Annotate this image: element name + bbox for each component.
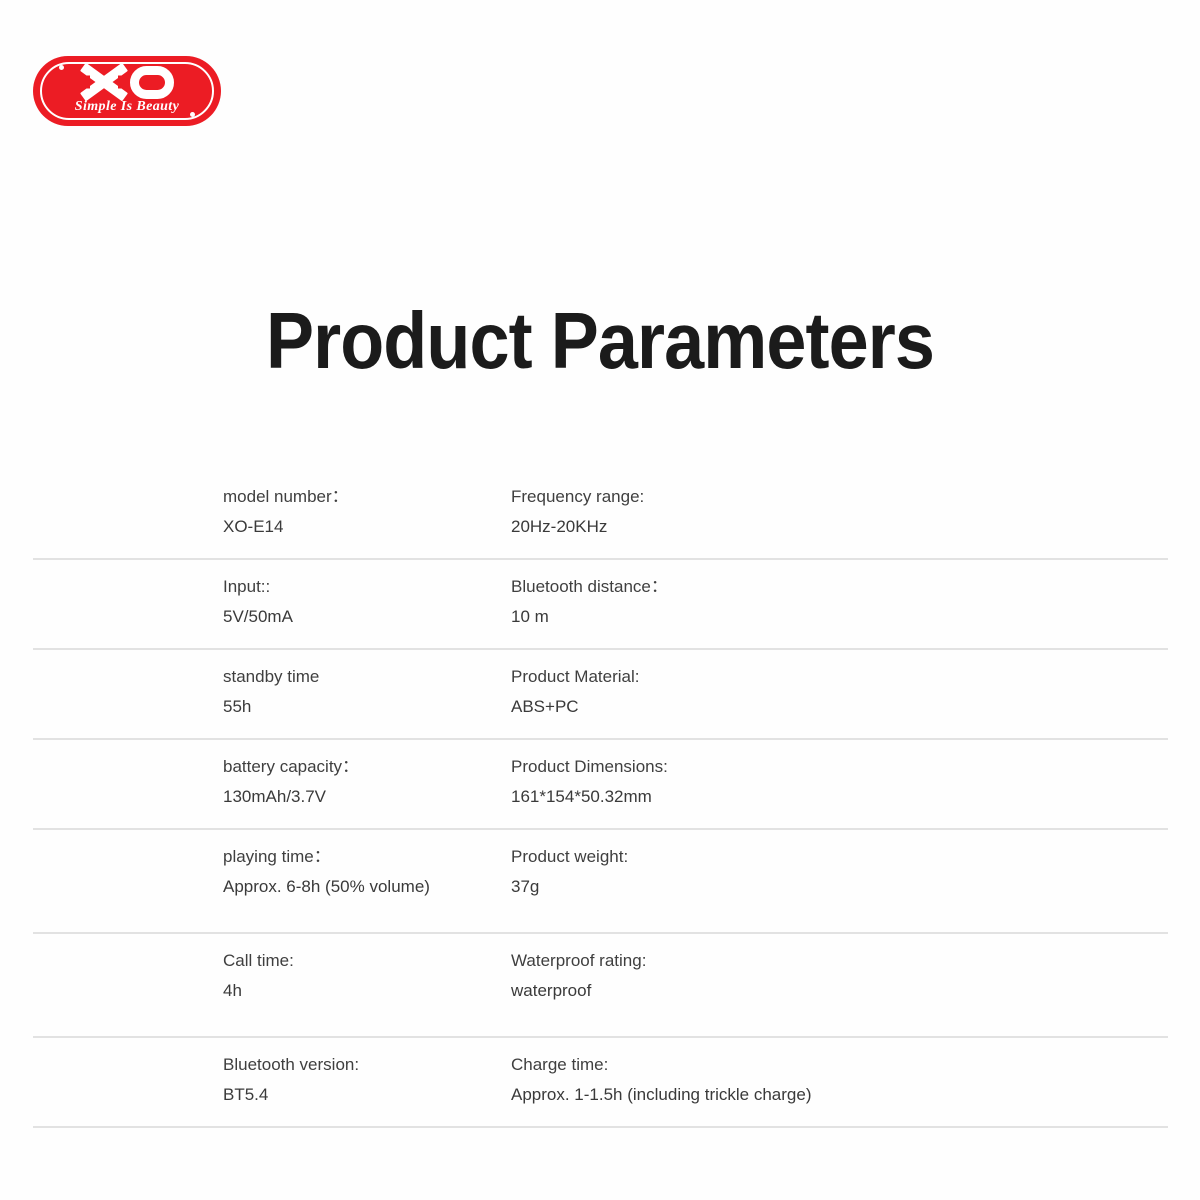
- spec-cell-right: Bluetooth distance： 10 m: [503, 560, 1168, 648]
- spec-value: Approx. 6-8h (50% volume): [223, 872, 503, 902]
- table-row: standby time 55h Product Material: ABS+P…: [33, 650, 1168, 740]
- spec-value: 130mAh/3.7V: [223, 782, 503, 812]
- spec-value: 10 m: [511, 602, 1168, 632]
- spec-value: Approx. 1-1.5h (including trickle charge…: [511, 1080, 1168, 1110]
- spec-label: Product Dimensions:: [511, 752, 1168, 782]
- spec-value: waterproof: [511, 976, 1168, 1006]
- product-parameters-page: Simple Is Beauty Product Parameters mode…: [0, 0, 1200, 1200]
- logo-tagline: Simple Is Beauty: [33, 99, 221, 115]
- spec-value: XO-E14: [223, 512, 503, 542]
- spec-value: 20Hz-20KHz: [511, 512, 1168, 542]
- logo-badge-shape: Simple Is Beauty: [33, 56, 221, 126]
- spec-label: battery capacity：: [223, 752, 503, 782]
- table-row: Bluetooth version: BT5.4 Charge time: Ap…: [33, 1038, 1168, 1128]
- spec-value: 4h: [223, 976, 503, 1006]
- spec-cell-left: Input:: 5V/50mA: [33, 560, 503, 648]
- spec-label: Frequency range:: [511, 482, 1168, 512]
- spec-value: 37g: [511, 872, 1168, 902]
- page-title: Product Parameters: [60, 297, 1140, 385]
- spec-cell-right: Charge time: Approx. 1-1.5h (including t…: [503, 1038, 1168, 1126]
- table-row: Call time: 4h Waterproof rating: waterpr…: [33, 934, 1168, 1038]
- spec-label: Bluetooth distance：: [511, 572, 1168, 602]
- spec-table: model number： XO-E14 Frequency range: 20…: [33, 470, 1168, 1128]
- spec-label: Call time:: [223, 946, 503, 976]
- logo-x-glyph-icon: [81, 66, 127, 99]
- spec-cell-right: Product Material: ABS+PC: [503, 650, 1168, 738]
- logo-xo-mark: [33, 65, 221, 99]
- spec-label: Input::: [223, 572, 503, 602]
- spec-cell-right: Product weight: 37g: [503, 830, 1168, 918]
- table-row: model number： XO-E14 Frequency range: 20…: [33, 470, 1168, 560]
- spec-label: Charge time:: [511, 1050, 1168, 1080]
- brand-logo: Simple Is Beauty: [33, 56, 221, 126]
- spec-label: standby time: [223, 662, 503, 692]
- spec-cell-right: Waterproof rating: waterproof: [503, 934, 1168, 1022]
- spec-cell-right: Frequency range: 20Hz-20KHz: [503, 470, 1168, 558]
- spec-label: playing time：: [223, 842, 503, 872]
- table-row: battery capacity： 130mAh/3.7V Product Di…: [33, 740, 1168, 830]
- spec-cell-left: battery capacity： 130mAh/3.7V: [33, 740, 503, 828]
- spec-label: model number：: [223, 482, 503, 512]
- spec-label: Product weight:: [511, 842, 1168, 872]
- spec-value: BT5.4: [223, 1080, 503, 1110]
- spec-cell-left: model number： XO-E14: [33, 470, 503, 558]
- table-row: playing time： Approx. 6-8h (50% volume) …: [33, 830, 1168, 934]
- spec-value: ABS+PC: [511, 692, 1168, 722]
- spec-label: Product Material:: [511, 662, 1168, 692]
- spec-value: 55h: [223, 692, 503, 722]
- spec-cell-left: playing time： Approx. 6-8h (50% volume): [33, 830, 503, 918]
- logo-o-glyph-icon: [130, 66, 174, 99]
- spec-value: 5V/50mA: [223, 602, 503, 632]
- spec-value: 161*154*50.32mm: [511, 782, 1168, 812]
- spec-cell-right: Product Dimensions: 161*154*50.32mm: [503, 740, 1168, 828]
- spec-label: Waterproof rating:: [511, 946, 1168, 976]
- spec-cell-left: standby time 55h: [33, 650, 503, 738]
- spec-label: Bluetooth version:: [223, 1050, 503, 1080]
- spec-cell-left: Call time: 4h: [33, 934, 503, 1022]
- table-row: Input:: 5V/50mA Bluetooth distance： 10 m: [33, 560, 1168, 650]
- spec-cell-left: Bluetooth version: BT5.4: [33, 1038, 503, 1126]
